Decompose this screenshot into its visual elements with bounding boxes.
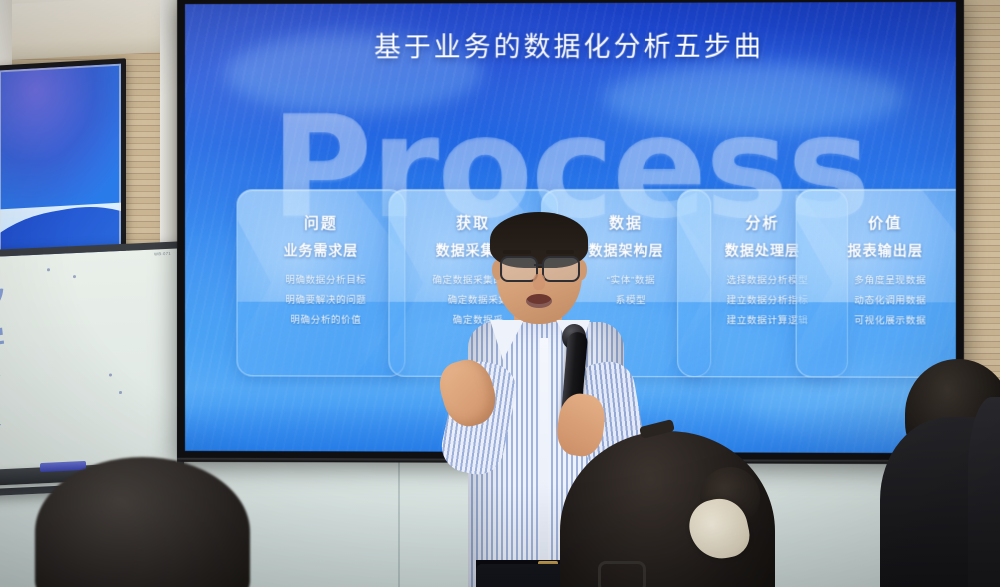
whiteboard-corner-label: WB-071 [154, 251, 171, 257]
audience-edge [968, 397, 1000, 587]
card-title: 问题 [238, 212, 405, 233]
card-subtitle: 报表输出层 [797, 240, 956, 260]
speaker-nose [533, 274, 545, 290]
whiteboard-smudge [119, 391, 122, 394]
card-bullet: 明确要解决的问题 [238, 291, 405, 311]
whiteboard-ink-mark: 彡 [0, 405, 5, 440]
card-bullet: 明确分析的价值 [238, 311, 405, 331]
panel-seam [398, 462, 400, 587]
card-bullet: 多角度呈现数据 [797, 271, 956, 291]
card-bullet: 明确数据分析目标 [238, 271, 405, 291]
card-title: 价值 [797, 212, 956, 233]
whiteboard-ink-mark: 字 [0, 315, 7, 363]
speaker-mouth [526, 294, 552, 308]
card-bullet: 可视化展示数据 [797, 311, 956, 331]
card-body: 问题 业务需求层 明确数据分析目标 明确要解决的问题 明确分析的价值 [238, 190, 405, 376]
whiteboard-ink-mark: 冷 [0, 359, 3, 397]
slide-title: 基于业务的数据化分析五步曲 [185, 24, 956, 65]
step-card-5[interactable]: 价值 报表输出层 多角度呈现数据 动态化调用数据 可视化展示数据 [796, 189, 956, 378]
presentation-room-photo: 出层 数据 WB-071 汐 字 冷 彡 Process 基于业务的数据化分析五… [0, 0, 1000, 587]
card-bullets: 多角度呈现数据 动态化调用数据 可视化展示数据 [797, 271, 956, 331]
card-body: 价值 报表输出层 多角度呈现数据 动态化调用数据 可视化展示数据 [797, 190, 956, 377]
whiteboard-smudge [73, 275, 76, 278]
speaker-glasses-right-lens [542, 256, 580, 282]
card-bullet: 动态化调用数据 [797, 291, 956, 311]
whiteboard-smudge [47, 268, 50, 271]
whiteboard-smudge [109, 373, 112, 376]
speaker-eyebrow-left [503, 250, 531, 254]
card-bullets: 明确数据分析目标 明确要解决的问题 明确分析的价值 [238, 271, 405, 331]
speaker-glasses-bridge [534, 264, 544, 266]
whiteboard-ink-mark: 汐 [0, 277, 7, 318]
step-card-1[interactable]: 问题 业务需求层 明确数据分析目标 明确要解决的问题 明确分析的价值 [237, 189, 406, 377]
card-subtitle: 业务需求层 [238, 240, 405, 260]
ceiling-soffit-left [0, 0, 172, 61]
audience-glasses [598, 561, 646, 587]
speaker-shirt-placket [540, 338, 548, 587]
speaker-eyebrow-right [546, 250, 574, 254]
